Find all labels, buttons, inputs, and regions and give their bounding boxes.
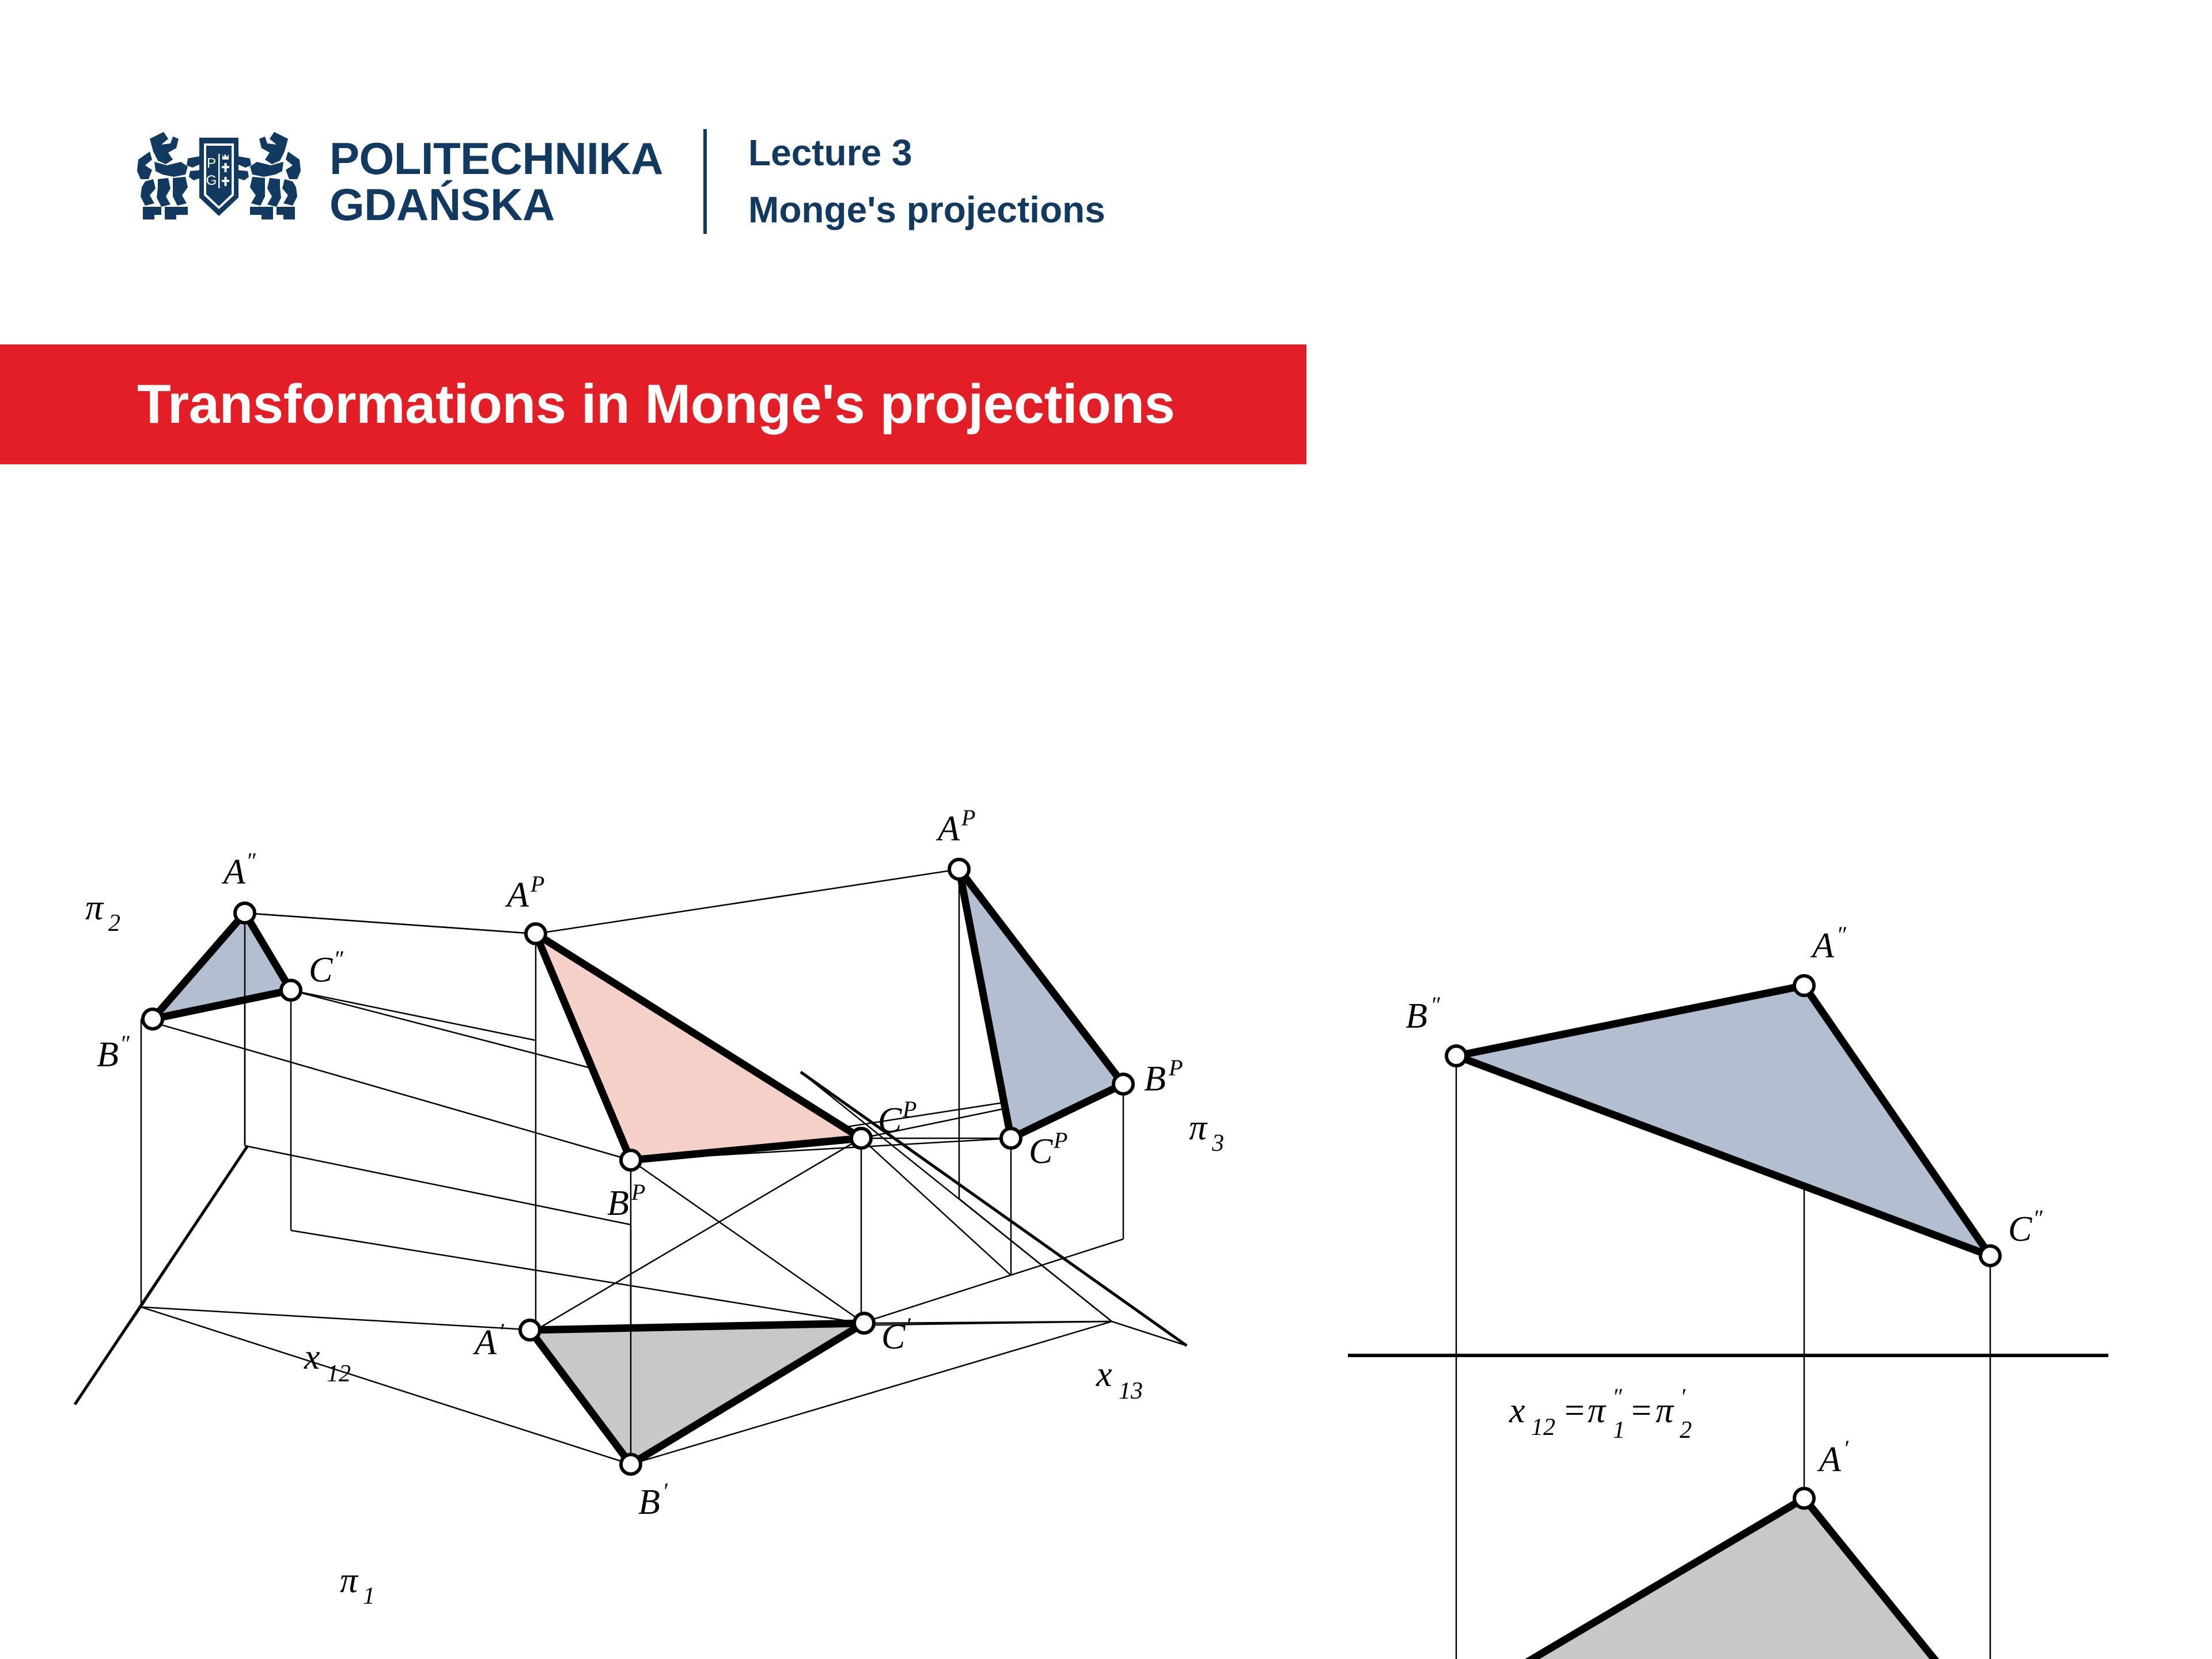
label-B-vertical-epure: B bbox=[1406, 997, 1427, 1036]
label-groundline-pi1-sub: 1 bbox=[1613, 1417, 1625, 1444]
politechnika-gdanska-crest-icon: P G bbox=[132, 124, 305, 239]
label-B-vertical-epure-sup: ″ bbox=[1430, 992, 1441, 1018]
label-groundline-x: x bbox=[1509, 1391, 1525, 1430]
right-epure-figure: A ″ B ″ C ″ A ′ B ′ C ′ x 12 = π ″ 1 = π… bbox=[0, 464, 2212, 1659]
ground-line-annotation: x 12 = π ″ 1 = π ′ 2 bbox=[1509, 1384, 1692, 1444]
university-name-line2: GDAŃSKA bbox=[329, 181, 663, 228]
page-title: Transformations in Monge's projections bbox=[137, 373, 1175, 436]
label-groundline-pi2-sub: 2 bbox=[1680, 1417, 1692, 1444]
label-C-vertical-epure-sup: ″ bbox=[2033, 1205, 2043, 1231]
svg-text:G: G bbox=[206, 173, 217, 188]
vertex-C2-epure-marker bbox=[1980, 1246, 2000, 1266]
header-divider bbox=[703, 129, 707, 234]
label-groundline-pi1: π bbox=[1588, 1391, 1607, 1430]
label-A-vertical-epure-sup: ″ bbox=[1836, 922, 1847, 948]
slide-title-banner: Transformations in Monge's projections bbox=[0, 344, 1306, 464]
label-A-vertical-epure: A bbox=[1810, 926, 1835, 965]
label-groundline-x-sub: 12 bbox=[1531, 1414, 1555, 1441]
lecture-topic: Monge's projections bbox=[748, 181, 1105, 238]
label-groundline-pi2-sup: ′ bbox=[1680, 1384, 1686, 1410]
triangle-horizontal-projection-epure bbox=[1456, 1498, 1990, 1659]
label-C-vertical-epure: C bbox=[2008, 1210, 2032, 1249]
university-branding: P G POLITECHNIKA GDAŃSKA Lecture 3 Monge… bbox=[132, 124, 1105, 239]
label-A-horizontal-epure-sup: ′ bbox=[1843, 1435, 1849, 1461]
lecture-info: Lecture 3 Monge's projections bbox=[748, 124, 1105, 238]
vertex-A1-epure-marker bbox=[1794, 1488, 1814, 1508]
label-groundline-eq1: = bbox=[1562, 1391, 1586, 1430]
vertex-A2-epure-marker bbox=[1794, 976, 1814, 995]
lecture-number: Lecture 3 bbox=[748, 124, 1105, 181]
label-groundline-eq2: = bbox=[1629, 1391, 1653, 1430]
label-A-horizontal-epure: A bbox=[1817, 1440, 1842, 1479]
university-name: POLITECHNIKA GDAŃSKA bbox=[329, 135, 663, 228]
triangle-vertical-projection-epure bbox=[1456, 986, 1990, 1256]
label-groundline-pi2: π bbox=[1656, 1391, 1675, 1430]
vertex-B2-epure-marker bbox=[1446, 1046, 1466, 1066]
slide-header: P G POLITECHNIKA GDAŃSKA Lecture 3 Monge… bbox=[0, 0, 2212, 334]
label-groundline-pi1-sup: ″ bbox=[1612, 1384, 1623, 1410]
university-name-line1: POLITECHNIKA bbox=[329, 135, 663, 181]
figures-area: A ″ B ″ C ″ A P B P C P A P B P C P A ′ … bbox=[0, 464, 2212, 1659]
svg-text:P: P bbox=[207, 156, 216, 171]
